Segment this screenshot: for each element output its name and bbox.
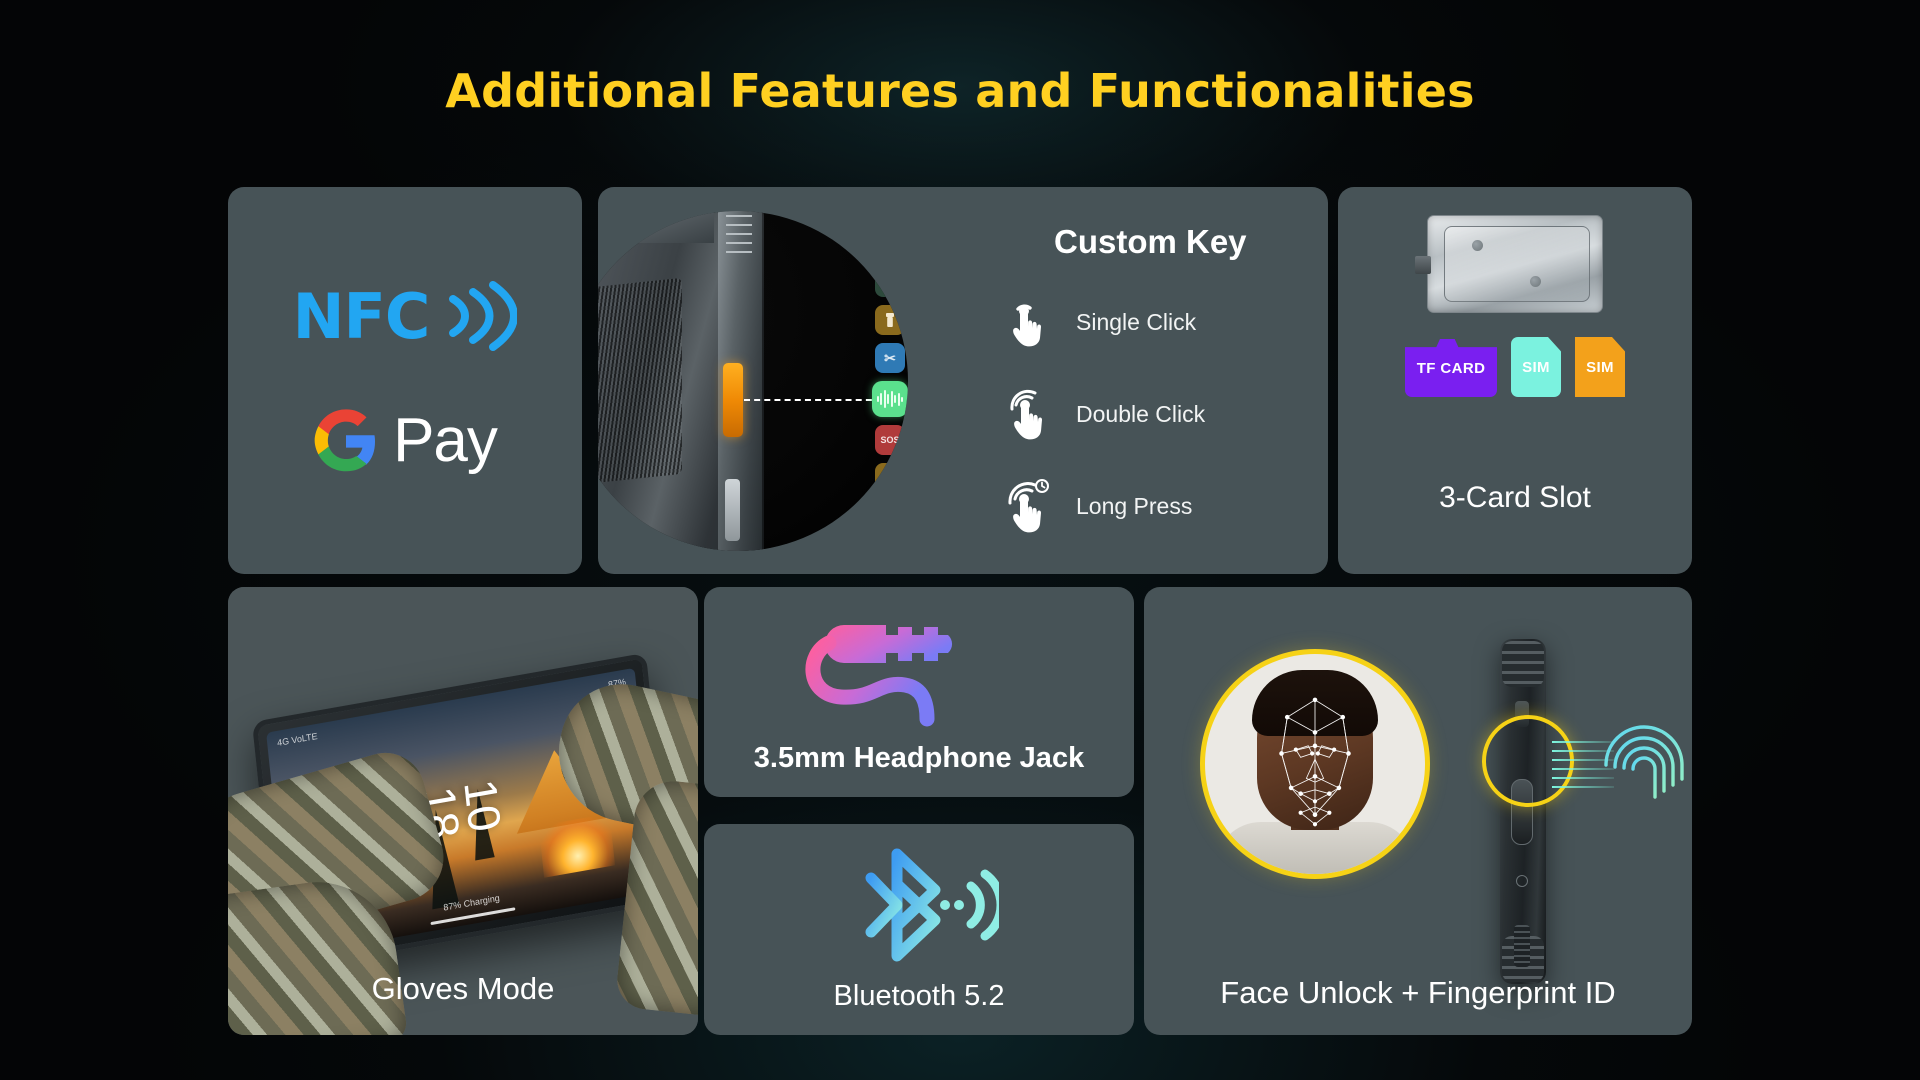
gloves-scene: 4G VoLTE 87% 10 18 87% Charging (228, 587, 698, 1035)
callout-dashed-line (744, 399, 882, 401)
phone-edge-lines (726, 215, 752, 257)
phone-side-profile (1500, 639, 1546, 984)
face-unlock-label: Face Unlock + Fingerprint ID (1144, 975, 1692, 1011)
custom-key-action-long[interactable]: Long Press (998, 475, 1328, 537)
custom-key-actions: Custom Key Single Click (998, 223, 1328, 537)
card-custom-key[interactable]: ✂ SOS (598, 187, 1328, 574)
app-icon-audio-recorder[interactable] (872, 381, 908, 417)
phone-side-grip (1514, 925, 1530, 967)
scissors-icon: ✂ (884, 350, 896, 367)
app-icon-calculator[interactable] (875, 463, 905, 493)
app-icon-dim-green-2[interactable] (875, 501, 905, 531)
app-icon-flashlight[interactable] (875, 305, 905, 335)
google-g-icon (313, 408, 379, 474)
app-icon-sos[interactable]: SOS (875, 425, 905, 455)
power-indicator-icon (1516, 875, 1528, 887)
double-click-label: Double Click (1076, 401, 1205, 428)
sim-card-tray (1427, 215, 1603, 313)
audio-wave-icon (877, 390, 904, 408)
card-face-unlock-fingerprint[interactable]: Face Unlock + Fingerprint ID (1144, 587, 1692, 1035)
tray-dot-1 (1472, 240, 1483, 251)
card-headphone-jack[interactable]: 3.5mm Headphone Jack (704, 587, 1134, 797)
feature-grid-stage: Additional Features and Functionalities … (0, 0, 1920, 1080)
volume-button[interactable] (725, 479, 740, 541)
long-press-label: Long Press (1076, 493, 1192, 520)
phone-closeup-circle: ✂ SOS (598, 211, 908, 551)
card-nfc-google-pay[interactable]: NFC Pay (228, 187, 582, 574)
headphone-jack-icon (789, 611, 1049, 731)
custom-key-action-single[interactable]: Single Click (998, 291, 1328, 353)
google-pay-row: Pay (228, 405, 582, 476)
app-icon-column: ✂ SOS (868, 267, 908, 531)
face-mesh-overlay (1205, 654, 1425, 874)
sim-card-2[interactable]: SIM (1575, 337, 1625, 397)
nfc-logo-group: NFC Pay (228, 279, 582, 476)
bluetooth-label: Bluetooth 5.2 (704, 980, 1134, 1013)
fingerprint-icon (1596, 713, 1692, 817)
custom-key-photo: ✂ SOS (598, 187, 988, 574)
single-tap-hand-icon (998, 291, 1060, 353)
google-pay-label: Pay (393, 405, 497, 476)
card-three-card-slot[interactable]: TF CARD SIM SIM 3-Card Slot (1338, 187, 1692, 574)
app-icon-scissors[interactable]: ✂ (875, 343, 905, 373)
nfc-label: NFC (293, 280, 430, 353)
custom-key-action-double[interactable]: Double Click (998, 383, 1328, 445)
long-press-hand-icon (998, 475, 1060, 537)
face-mesh-icon (1200, 649, 1430, 879)
custom-key-button[interactable] (723, 363, 743, 437)
single-click-label: Single Click (1076, 309, 1196, 336)
phone-top-cap (1502, 641, 1544, 687)
calculator-icon (884, 471, 897, 485)
nfc-wave-icon (439, 279, 517, 353)
phone-speaker-grille (598, 278, 682, 488)
three-card-slot-label: 3-Card Slot (1338, 481, 1692, 515)
tf-card[interactable]: TF CARD (1405, 339, 1497, 397)
tray-pin (1415, 256, 1431, 274)
gloves-mode-label: Gloves Mode (228, 971, 698, 1007)
nfc-row: NFC (228, 279, 582, 353)
card-bluetooth[interactable]: Bluetooth 5.2 (704, 824, 1134, 1035)
phone-top-fin (604, 211, 714, 243)
flashlight-icon (884, 312, 896, 328)
card-types-row: TF CARD SIM SIM (1405, 337, 1625, 397)
lockscreen-status-left: 4G VoLTE (277, 731, 318, 748)
campfire-graphic (538, 813, 614, 877)
page-title: Additional Features and Functionalities (0, 64, 1920, 118)
tray-dot-2 (1530, 276, 1541, 287)
bluetooth-icon (839, 846, 999, 964)
headphone-jack-label: 3.5mm Headphone Jack (704, 742, 1134, 775)
double-tap-hand-icon (998, 383, 1060, 445)
sim-card-1[interactable]: SIM (1511, 337, 1561, 397)
card-gloves-mode[interactable]: 4G VoLTE 87% 10 18 87% Charging Gloves M… (228, 587, 698, 1035)
custom-key-title: Custom Key (1054, 223, 1328, 261)
app-icon-dim-green[interactable] (875, 267, 905, 297)
